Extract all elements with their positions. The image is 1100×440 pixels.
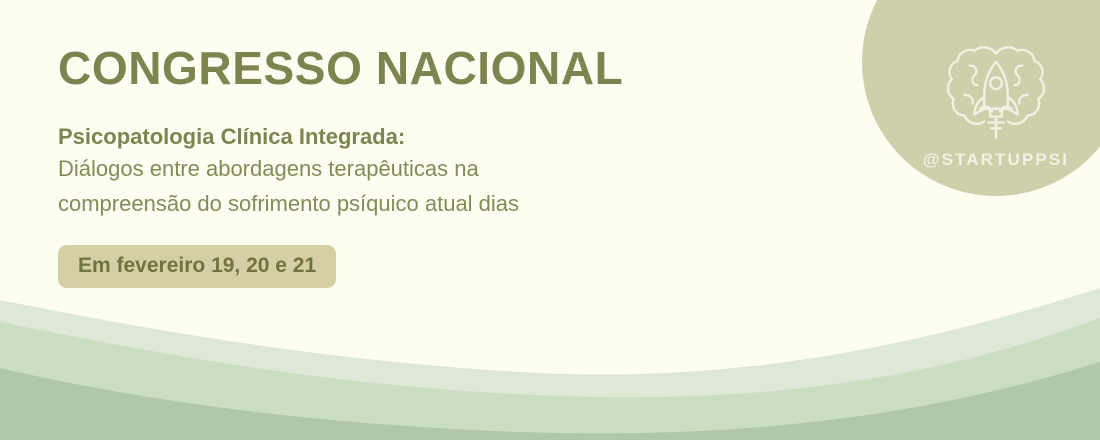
- subtitle-line-1: Diálogos entre abordagens terapêuticas n…: [58, 152, 798, 187]
- subtitle-strong: Psicopatologia Clínica Integrada:: [58, 122, 798, 152]
- banner-content: CONGRESSO NACIONAL Psicopatologia Clínic…: [58, 44, 798, 288]
- event-banner: @STARTUPPSI CONGRESSO NACIONAL Psicopato…: [0, 0, 1100, 440]
- page-title: CONGRESSO NACIONAL: [58, 44, 798, 92]
- subtitle-line-2: compreensão do sofrimento psíquico atual…: [58, 187, 798, 222]
- subtitle-block: Psicopatologia Clínica Integrada: Diálog…: [58, 122, 798, 221]
- brand-handle: @STARTUPPSI: [923, 150, 1069, 170]
- date-badge: Em fevereiro 19, 20 e 21: [58, 245, 336, 288]
- brain-rocket-icon: [937, 40, 1055, 144]
